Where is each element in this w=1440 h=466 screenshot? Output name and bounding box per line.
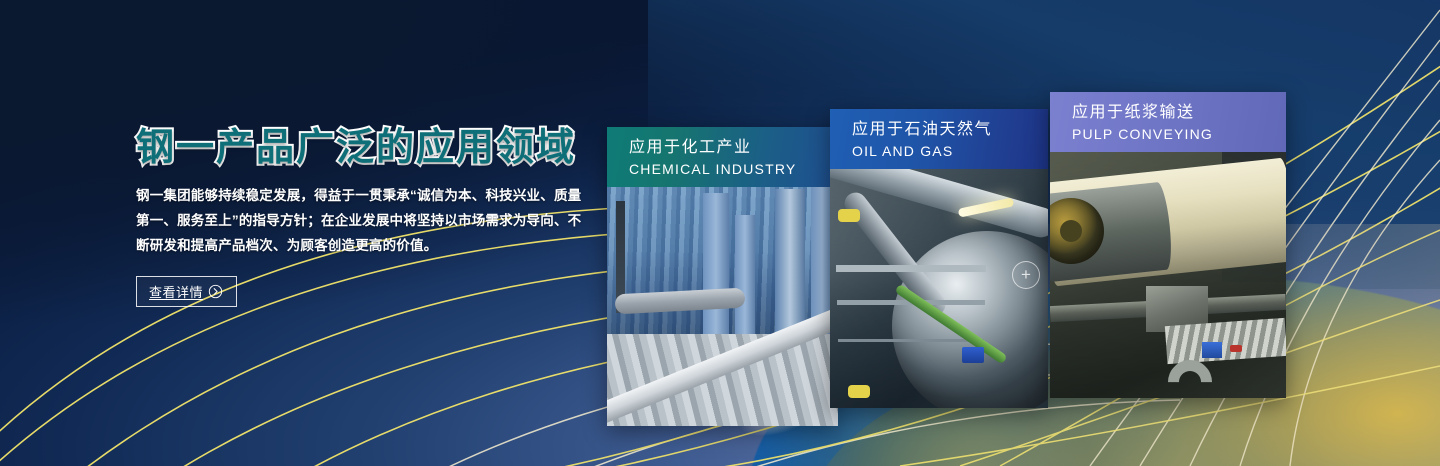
card-title-en: OIL AND GAS <box>852 142 1048 160</box>
card-header-chemical: 应用于化工产业 CHEMICAL INDUSTRY <box>607 127 838 187</box>
hero-copy-block: 钢一产品广泛的应用领域 钢一集团能够持续稳定发展，得益于一贯秉承“诚信为本、科技… <box>136 128 596 307</box>
application-card-oil-gas[interactable]: 应用于石油天然气 OIL AND GAS + <box>830 109 1048 408</box>
application-card-chemical[interactable]: 应用于化工产业 CHEMICAL INDUSTRY <box>607 127 838 426</box>
card-title-cn: 应用于化工产业 <box>629 137 838 159</box>
plus-circle-icon[interactable]: + <box>1012 261 1040 289</box>
card-title-cn: 应用于石油天然气 <box>852 119 1048 141</box>
hero-banner: 钢一产品广泛的应用领域 钢一集团能够持续稳定发展，得益于一贯秉承“诚信为本、科技… <box>0 0 1440 466</box>
card-header-oil-gas: 应用于石油天然气 OIL AND GAS <box>830 109 1048 169</box>
chevron-right-circle-icon <box>208 284 223 299</box>
application-card-pulp[interactable]: 应用于纸浆输送 PULP CONVEYING <box>1050 92 1286 398</box>
card-photo-oil-gas: + <box>830 169 1048 408</box>
card-photo-pulp <box>1050 152 1286 398</box>
card-photo-chemical <box>607 187 838 426</box>
view-details-label: 查看详情 <box>149 282 203 301</box>
card-title-en: CHEMICAL INDUSTRY <box>629 160 838 178</box>
card-header-pulp: 应用于纸浆输送 PULP CONVEYING <box>1050 92 1286 152</box>
page-title: 钢一产品广泛的应用领域 <box>136 128 596 169</box>
card-title-en: PULP CONVEYING <box>1072 125 1286 143</box>
card-title-cn: 应用于纸浆输送 <box>1072 102 1286 124</box>
view-details-button[interactable]: 查看详情 <box>136 276 237 307</box>
hero-description: 钢一集团能够持续稳定发展，得益于一贯秉承“诚信为本、科技兴业、质量第一、服务至上… <box>136 183 584 258</box>
